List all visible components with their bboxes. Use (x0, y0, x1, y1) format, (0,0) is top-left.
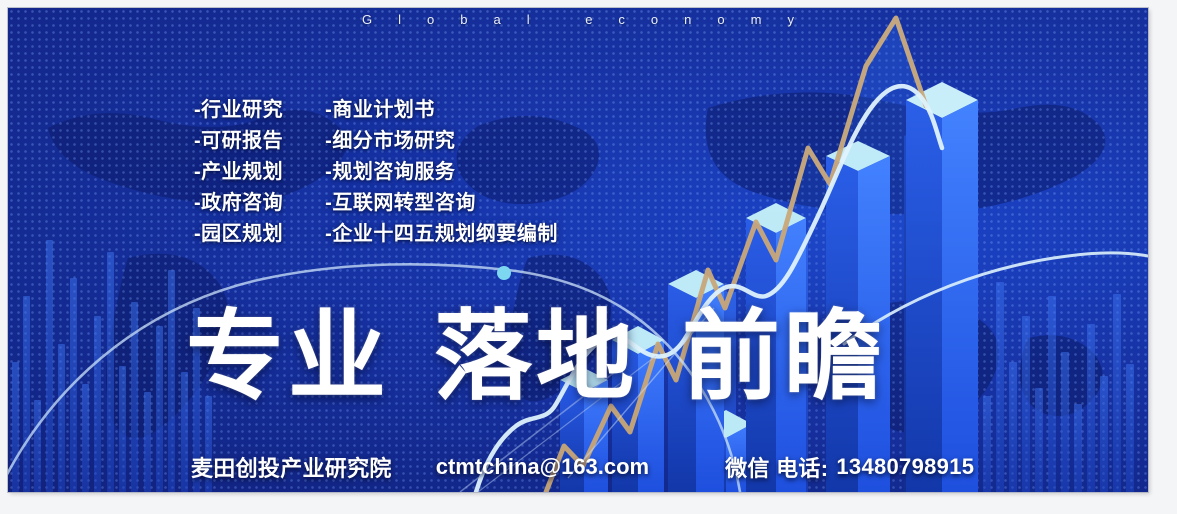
banner-frame: Global economy -行业研究 -可研报告 -产业规划 -政府咨询 -… (8, 8, 1148, 492)
slogan-word-1: 专业 (186, 306, 390, 406)
slogan-word-2: 落地 (434, 306, 638, 406)
slogan-headline: 专业 落地 前瞻 (186, 306, 886, 406)
bar-group-front (560, 82, 978, 492)
service-item: -政府咨询 (194, 189, 283, 217)
company-name: 麦田创投产业研究院 (191, 451, 392, 483)
growth-chart (8, 8, 1148, 492)
service-item: -园区规划 (194, 220, 283, 248)
services-list: -行业研究 -可研报告 -产业规划 -政府咨询 -园区规划 -商业计划书 -细分… (194, 96, 558, 248)
global-economy-heading: Global economy (8, 12, 1148, 38)
contact-row: 麦田创投产业研究院 ctmtchina@163.com 微信 电话: 13480… (191, 451, 974, 483)
phone-number[interactable]: 13480798915 (836, 454, 974, 480)
services-column-2: -商业计划书 -细分市场研究 -规划咨询服务 -互联网转型咨询 -企业十四五规划… (325, 96, 558, 248)
slogan-word-3: 前瞻 (682, 306, 886, 406)
promo-banner: Global economy -行业研究 -可研报告 -产业规划 -政府咨询 -… (0, 0, 1177, 514)
email-address[interactable]: ctmtchina@163.com (436, 454, 649, 480)
services-column-1: -行业研究 -可研报告 -产业规划 -政府咨询 -园区规划 (194, 96, 283, 248)
service-item: -互联网转型咨询 (325, 189, 558, 217)
service-item: -可研报告 (194, 127, 283, 155)
arc-node-dot (497, 266, 511, 280)
service-item: -规划咨询服务 (325, 158, 558, 186)
wechat-phone-label: 微信 电话: (725, 451, 828, 483)
service-item: -行业研究 (194, 96, 283, 124)
service-item: -企业十四五规划纲要编制 (325, 220, 558, 248)
service-item: -细分市场研究 (325, 127, 558, 155)
service-item: -产业规划 (194, 158, 283, 186)
service-item: -商业计划书 (325, 96, 558, 124)
